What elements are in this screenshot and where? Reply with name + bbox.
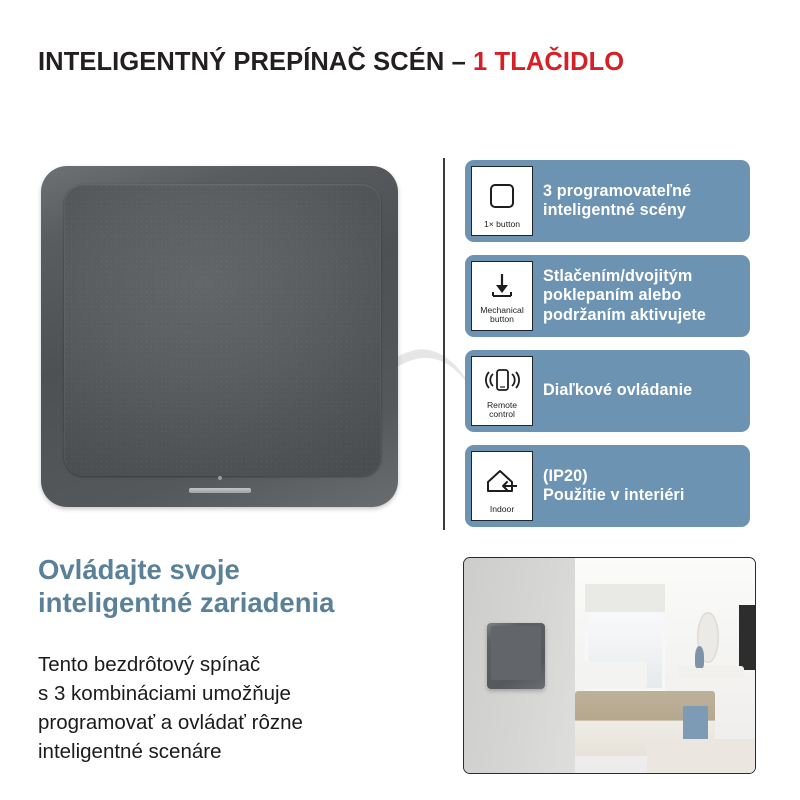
room-window-blind [585, 584, 664, 612]
indoor-house-icon [472, 459, 532, 505]
product-led-indicator [218, 476, 222, 480]
product-indicator-strip [189, 488, 251, 493]
feature-item: Remote control Diaľkové ovládanie [465, 350, 750, 432]
lead-heading: Ovládajte svoje inteligentné zariadenia [38, 553, 428, 619]
feature-text: 3 programovateľné inteligentné scény [533, 182, 750, 221]
feature-item: Indoor (IP20) Použitie v interiéri [465, 445, 750, 527]
feature-icon-tile: Mechanical button [471, 261, 533, 331]
room-console-table [679, 666, 744, 679]
room-tv [739, 605, 755, 670]
product-image [41, 166, 398, 507]
feature-icon-tile: 1× button [471, 166, 533, 236]
feature-item: Mechanical button Stlačením/dvojitým pok… [465, 255, 750, 337]
feature-icon-caption: Remote control [487, 401, 517, 425]
product-rocker-button [64, 184, 381, 476]
feature-list: 1× button 3 programovateľné inteligentné… [465, 160, 750, 540]
room-pillows [582, 661, 647, 689]
feature-text: Stlačením/dvojitým poklepaním alebo podr… [533, 267, 750, 326]
room-rug [647, 739, 755, 773]
page-title-main: INTELIGENTNÝ PREPÍNAČ SCÉN – [38, 48, 473, 76]
feature-text: Diaľkové ovládanie [533, 381, 750, 401]
room-image [463, 557, 756, 774]
feature-icon-caption: 1× button [484, 220, 520, 235]
vertical-divider [443, 158, 445, 530]
page-title-accent: 1 TLAČIDLO [473, 48, 624, 76]
feature-icon-caption: Indoor [490, 505, 514, 520]
feature-icon-tile: Remote control [471, 356, 533, 426]
room-wall-switch [487, 623, 545, 690]
lead-body-text: Tento bezdrôtový spínač s 3 kombináciami… [38, 650, 438, 766]
product-frame [41, 166, 398, 507]
remote-control-icon [472, 364, 532, 401]
mechanical-button-icon [472, 269, 532, 306]
page-title: INTELIGENTNÝ PREPÍNAČ SCÉN – 1 TLAČIDLO [38, 48, 624, 77]
feature-icon-tile: Indoor [471, 451, 533, 521]
room-scene [575, 558, 755, 773]
feature-icon-caption: Mechanical button [480, 306, 523, 330]
one-button-icon [472, 174, 532, 220]
feature-text: (IP20) Použitie v interiéri [533, 467, 750, 506]
feature-item: 1× button 3 programovateľné inteligentné… [465, 160, 750, 242]
